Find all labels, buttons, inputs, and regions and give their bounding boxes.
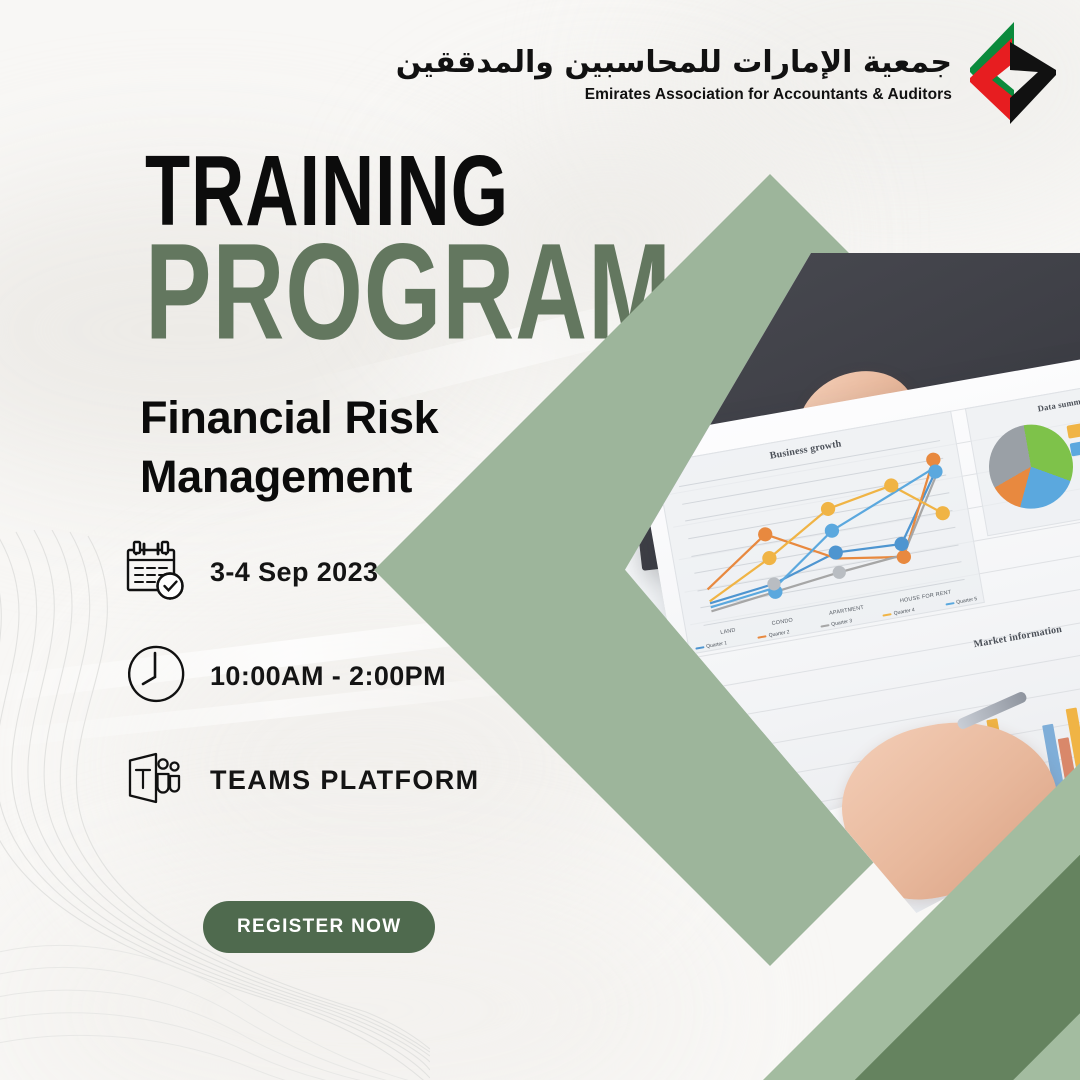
brand-name-english: Emirates Association for Accountants & A… [396, 86, 952, 104]
calendar-check-icon [122, 539, 196, 605]
pie-chart [982, 417, 1080, 524]
poster-canvas: جمعية الإمارات للمحاسبين والمدققين Emira… [0, 0, 1080, 1080]
course-title-line1: Financial Risk [140, 388, 438, 447]
detail-row-platform: TEAMS PLATFORM [122, 741, 480, 819]
axis-label: LAND [720, 627, 736, 636]
brand-logo-text: جمعية الإمارات للمحاسبين والمدققين Emira… [396, 44, 952, 105]
brand-name-arabic: جمعية الإمارات للمحاسبين والمدققين [396, 44, 952, 82]
legend-item: Quarter 2 [757, 629, 790, 640]
pie-slices [982, 418, 1079, 515]
legend-item: Quarter 3 [820, 618, 853, 629]
clock-icon [122, 643, 196, 709]
detail-label-time: 10:00AM - 2:00PM [210, 661, 446, 692]
legend-item: Quarter 1 [695, 640, 728, 651]
detail-label-platform: TEAMS PLATFORM [210, 765, 480, 796]
photo-composition: Business growth [470, 245, 1080, 895]
register-now-button[interactable]: REGISTER NOW [203, 901, 435, 953]
eaa-chevron-logo-icon [966, 22, 1058, 126]
microsoft-teams-icon [122, 747, 196, 813]
course-title: Financial Risk Management [140, 388, 438, 507]
axis-label: CONDO [771, 617, 793, 627]
detail-label-date: 3-4 Sep 2023 [210, 557, 378, 588]
detail-row-time: 10:00AM - 2:00PM [122, 637, 480, 715]
brand-logo: جمعية الإمارات للمحاسبين والمدققين Emira… [396, 22, 1058, 126]
chart-business-growth: Business growth [656, 411, 985, 655]
legend-item: Quarter 5 [945, 596, 978, 607]
chart-data-summary: Data summary Total income Land Condo [965, 374, 1080, 537]
course-title-line2: Management [140, 447, 438, 506]
axis-label: APARTMENT [829, 605, 865, 617]
legend-item: Quarter 4 [882, 607, 915, 618]
